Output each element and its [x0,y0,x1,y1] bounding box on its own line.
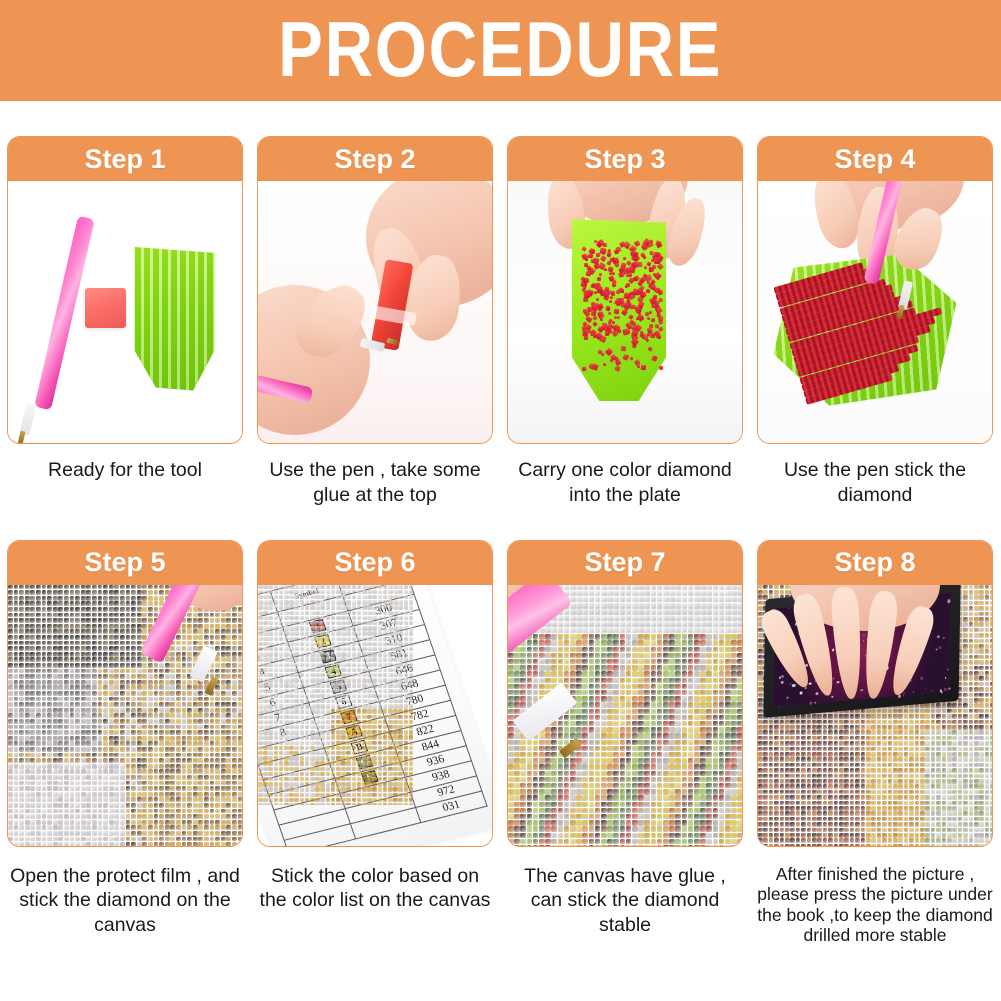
diamond-bead [131,646,136,651]
diamond-bead [607,591,613,597]
diamond-bead [176,825,181,830]
diamond-bead [14,842,19,845]
diamond-bead [36,657,41,662]
diamond-bead [92,781,97,786]
diamond-bead [258,642,263,647]
diamond-bead [582,609,588,615]
diamond-bead [221,618,226,623]
diamond-bead [142,809,147,814]
diamond-bead [362,611,367,616]
diamond-bead [383,626,388,631]
diamond-bead [520,684,526,690]
diamond-bead [148,809,153,814]
diamond-bead [154,803,159,808]
diamond-bead [393,663,398,668]
diamond-bead [279,647,284,652]
diamond-bead [626,752,632,758]
diamond-bead [70,652,75,657]
diamond-bead [53,702,58,707]
diamond-bead [300,616,305,621]
diamond-bead [638,684,644,690]
diamond-bead [644,585,650,591]
diamond-bead [103,786,108,791]
diamond-bead [268,626,273,631]
diamond-bead [638,702,644,708]
diamond-bead [81,825,86,830]
glue-square-icon [85,288,126,328]
diamond-bead [198,797,203,802]
diamond-bead [331,725,336,730]
diamond-bead [221,764,226,769]
diamond-bead [176,691,181,696]
diamond-bead [378,626,383,631]
diamond-bead [632,671,638,677]
diamond-bead [114,764,119,769]
diamond-bead [289,715,294,720]
diamond-bead [688,727,694,733]
diamond-bead [651,634,657,640]
diamond-bead [626,640,632,646]
diamond-bead [64,803,69,808]
diamond-bead [36,831,41,836]
diamond-bead [657,696,663,702]
diamond-bead [682,764,688,770]
diamond-bead [663,603,669,609]
diamond-bead [36,590,41,595]
diamond-bead [137,652,142,657]
diamond-bead [226,646,231,651]
diamond-bead [600,353,604,357]
diamond-bead [305,735,310,740]
diamond-bead [357,793,362,798]
diamond-bead [263,621,268,626]
diamond-bead [644,733,650,739]
diamond-bead [289,741,294,746]
diamond-bead [204,803,209,808]
diamond-bead [92,803,97,808]
diamond-bead [182,792,187,797]
diamond-bead [187,736,192,741]
diamond-bead [383,600,388,605]
diamond-bead [622,354,629,361]
diamond-bead [92,641,97,646]
diamond-bead [300,600,305,605]
diamond-bead [187,713,192,718]
diamond-bead [170,764,175,769]
diamond-bead [81,708,86,713]
diamond-bead [268,746,273,751]
diamond-bead [274,631,279,636]
diamond-bead [638,727,644,733]
diamond-bead [601,721,607,727]
diamond-bead [731,733,737,739]
diamond-bead [114,697,119,702]
diamond-bead [204,708,209,713]
diamond-bead [258,590,263,595]
diamond-bead [367,709,372,714]
diamond-bead [558,628,564,634]
diamond-bead [210,697,215,702]
diamond-bead [109,825,114,830]
diamond-bead [232,814,237,819]
diamond-bead [675,640,681,646]
diamond-bead [545,647,551,653]
diamond-bead [268,793,273,798]
diamond-bead [663,585,669,591]
diamond-bead [148,601,153,606]
diamond-bead [388,626,393,631]
diamond-bead [159,691,164,696]
step-label-2: Step 2 [334,146,415,173]
diamond-bead [372,793,377,798]
step-card-1: Step 1 [7,136,243,444]
diamond-bead [367,715,372,720]
diamond-bead [176,669,181,674]
diamond-bead [533,746,539,752]
diamond-bead [341,631,346,636]
diamond-bead [36,769,41,774]
diamond-bead [508,671,514,677]
diamond-bead [19,618,24,623]
diamond-bead [64,725,69,730]
diamond-bead [114,820,119,825]
diamond-bead [607,616,613,622]
diamond-bead [193,769,198,774]
diamond-bead [75,596,80,601]
diamond-bead [75,758,80,763]
diamond-bead [126,685,131,690]
diamond-bead [221,646,226,651]
diamond-bead [357,683,362,688]
step-photo-1 [8,181,242,443]
diamond-bead [142,792,147,797]
diamond-bead [719,585,725,591]
diamond-bead [383,704,388,709]
diamond-bead [14,747,19,752]
diamond-bead [713,690,719,696]
diamond-bead [159,725,164,730]
diamond-bead [182,652,187,657]
diamond-bead [187,797,192,802]
diamond-bead [92,769,97,774]
diamond-bead [25,797,30,802]
diamond-bead [170,663,175,668]
diamond-bead [98,769,103,774]
diamond-bead [114,781,119,786]
diamond-bead [388,689,393,694]
diamond-bead [725,715,731,721]
diamond-bead [232,685,237,690]
diamond-bead [383,678,388,683]
diamond-bead [25,730,30,735]
diamond-mosaic-canvas [8,585,242,846]
diamond-bead [193,797,198,802]
diamond-bead [210,842,215,845]
diamond-bead [404,735,409,740]
diamond-bead [165,725,170,730]
diamond-bead [30,708,35,713]
diamond-bead [98,803,103,808]
diamond-bead [126,803,131,808]
diamond-bead [268,683,273,688]
diamond-bead [165,825,170,830]
diamond-bead [182,646,187,651]
diamond-bead [19,758,24,763]
diamond-bead [137,685,142,690]
diamond-bead [75,831,80,836]
diamond-bead [120,736,125,741]
diamond-bead [75,713,80,718]
diamond-bead [58,629,63,634]
diamond-bead [409,793,414,798]
diamond-bead [86,719,91,724]
diamond-bead [346,668,351,673]
diamond-bead [8,797,13,802]
diamond-bead [42,685,47,690]
diamond-bead [731,628,737,634]
diamond-bead [64,669,69,674]
diamond-bead [25,814,30,819]
diamond-bead [713,634,719,640]
diamond-bead [64,674,69,679]
diamond-bead [651,622,657,628]
diamond-bead [142,781,147,786]
diamond-bead [258,595,263,600]
diamond-bead [221,786,226,791]
diamond-bead [120,635,125,640]
diamond-bead [170,758,175,763]
diamond-bead [19,601,24,606]
diamond-bead [300,647,305,652]
diamond-bead [607,715,613,721]
diamond-bead [608,299,612,303]
diamond-bead [613,758,619,764]
diamond-bead [393,751,398,756]
diamond-bead [367,631,372,636]
diamond-bead [626,758,632,764]
diamond-bead [165,797,170,802]
diamond-bead [193,725,198,730]
diamond-bead [109,697,114,702]
diamond-bead [362,683,367,688]
diamond-bead [126,719,131,724]
diamond-bead [713,597,719,603]
diamond-bead [737,597,742,603]
diamond-bead [120,613,125,618]
diamond-bead [638,746,644,752]
diamond-bead [713,752,719,758]
diamond-bead [126,792,131,797]
diamond-bead [341,782,346,787]
diamond-bead [372,600,377,605]
diamond-bead [86,764,91,769]
diamond-bead [378,699,383,704]
diamond-bead [725,690,731,696]
diamond-bead [258,631,263,636]
diamond-bead [719,640,725,646]
diamond-bead [232,669,237,674]
diamond-bead [165,814,170,819]
diamond-bead [142,775,147,780]
diamond-bead [284,756,289,761]
diamond-bead [564,671,570,677]
diamond-bead [640,365,645,370]
diamond-bead [383,751,388,756]
diamond-bead [120,674,125,679]
diamond-bead [508,709,514,715]
diamond-bead [378,585,383,590]
diamond-bead [294,720,299,725]
diamond-bead [238,629,242,634]
diamond-bead [576,696,582,702]
diamond-bead [193,719,198,724]
diamond-bead [539,764,545,770]
diamond-bead [570,665,576,671]
diamond-bead [700,591,706,597]
diamond-bead [120,758,125,763]
diamond-bead [610,296,613,299]
diamond-bead [589,740,595,746]
diamond-bead [336,725,341,730]
diamond-bead [215,842,220,845]
diamond-bead [42,781,47,786]
diamond-bead [36,786,41,791]
diamond-bead [36,825,41,830]
diamond-bead [210,803,215,808]
diamond-bead [404,631,409,636]
diamond-bead [336,803,341,805]
diamond-bead [576,659,582,665]
diamond-bead [362,777,367,782]
diamond-bead [731,696,737,702]
diamond-bead [70,663,75,668]
diamond-bead [53,618,58,623]
diamond-bead [326,657,331,662]
diamond-bead [30,585,35,590]
tray-ridges [132,244,217,392]
diamond-bead [651,740,657,746]
diamond-bead [70,781,75,786]
diamond-bead [564,628,570,634]
diamond-bead [346,585,351,590]
diamond-bead [25,585,30,590]
diamond-bead [274,772,279,777]
diamond-bead [310,699,315,704]
diamond-bead [300,720,305,725]
diamond-bead [576,690,582,696]
diamond-bead [632,665,638,671]
diamond-bead [706,647,712,653]
diamond-bead [131,624,136,629]
diamond-bead [30,596,35,601]
diamond-bead [731,647,737,653]
diamond-bead [204,725,209,730]
diamond-bead [284,730,289,735]
diamond-bead [210,747,215,752]
diamond-bead [142,708,147,713]
diamond-bead [204,842,209,845]
diamond-bead [393,720,398,725]
diamond-bead [81,657,86,662]
diamond-bead [8,820,13,825]
diamond-bead [36,792,41,797]
diamond-bead [300,735,305,740]
diamond-bead [346,694,351,699]
diamond-bead [148,736,153,741]
diamond-bead [682,585,688,591]
diamond-bead [725,746,731,752]
diamond-bead [42,719,47,724]
diamond-bead [120,781,125,786]
diamond-bead [36,764,41,769]
diamond-bead [331,730,336,735]
diamond-bead [632,733,638,739]
diamond-bead [520,678,526,684]
diamond-bead [58,725,63,730]
diamond-bead [657,640,663,646]
diamond-bead [576,628,582,634]
diamond-bead [362,746,367,751]
diamond-bead [142,713,147,718]
diamond-bead [675,764,681,770]
diamond-bead [320,735,325,740]
diamond-bead [576,647,582,653]
diamond-bead [582,634,588,640]
diamond-bead [258,756,263,761]
diamond-bead [305,642,310,647]
diamond-bead [388,699,393,704]
diamond-bead [263,756,268,761]
diamond-bead [75,741,80,746]
diamond-bead [131,775,136,780]
diamond-bead [657,727,663,733]
diamond-bead [576,665,582,671]
diamond-bead [126,736,131,741]
diamond-bead [315,668,320,673]
diamond-bead [688,690,694,696]
diamond-bead [404,730,409,735]
diamond-bead [638,740,644,746]
diamond-bead [42,585,47,590]
diamond-bead [669,721,675,727]
diamond-bead [8,837,13,842]
diamond-bead [372,642,377,647]
diamond-bead [30,618,35,623]
diamond-bead [326,761,331,766]
diamond-bead [694,702,700,708]
diamond-bead [725,764,731,770]
diamond-bead [357,715,362,720]
diamond-bead [103,797,108,802]
diamond-bead [226,697,231,702]
diamond-bead [357,782,362,787]
diamond-bead [595,702,601,708]
diamond-bead [713,640,719,646]
diamond-bead [126,842,131,845]
diamond-bead [263,699,268,704]
diamond-bead [109,708,114,713]
diamond-bead [176,719,181,724]
diamond-bead [148,764,153,769]
diamond-bead [103,657,108,662]
diamond-bead [713,721,719,727]
diamond-bead [336,605,341,610]
diamond-bead [346,735,351,740]
diamond-bead [352,642,357,647]
diamond-bead [657,709,663,715]
diamond-bead [336,798,341,803]
diamond-bead [92,713,97,718]
